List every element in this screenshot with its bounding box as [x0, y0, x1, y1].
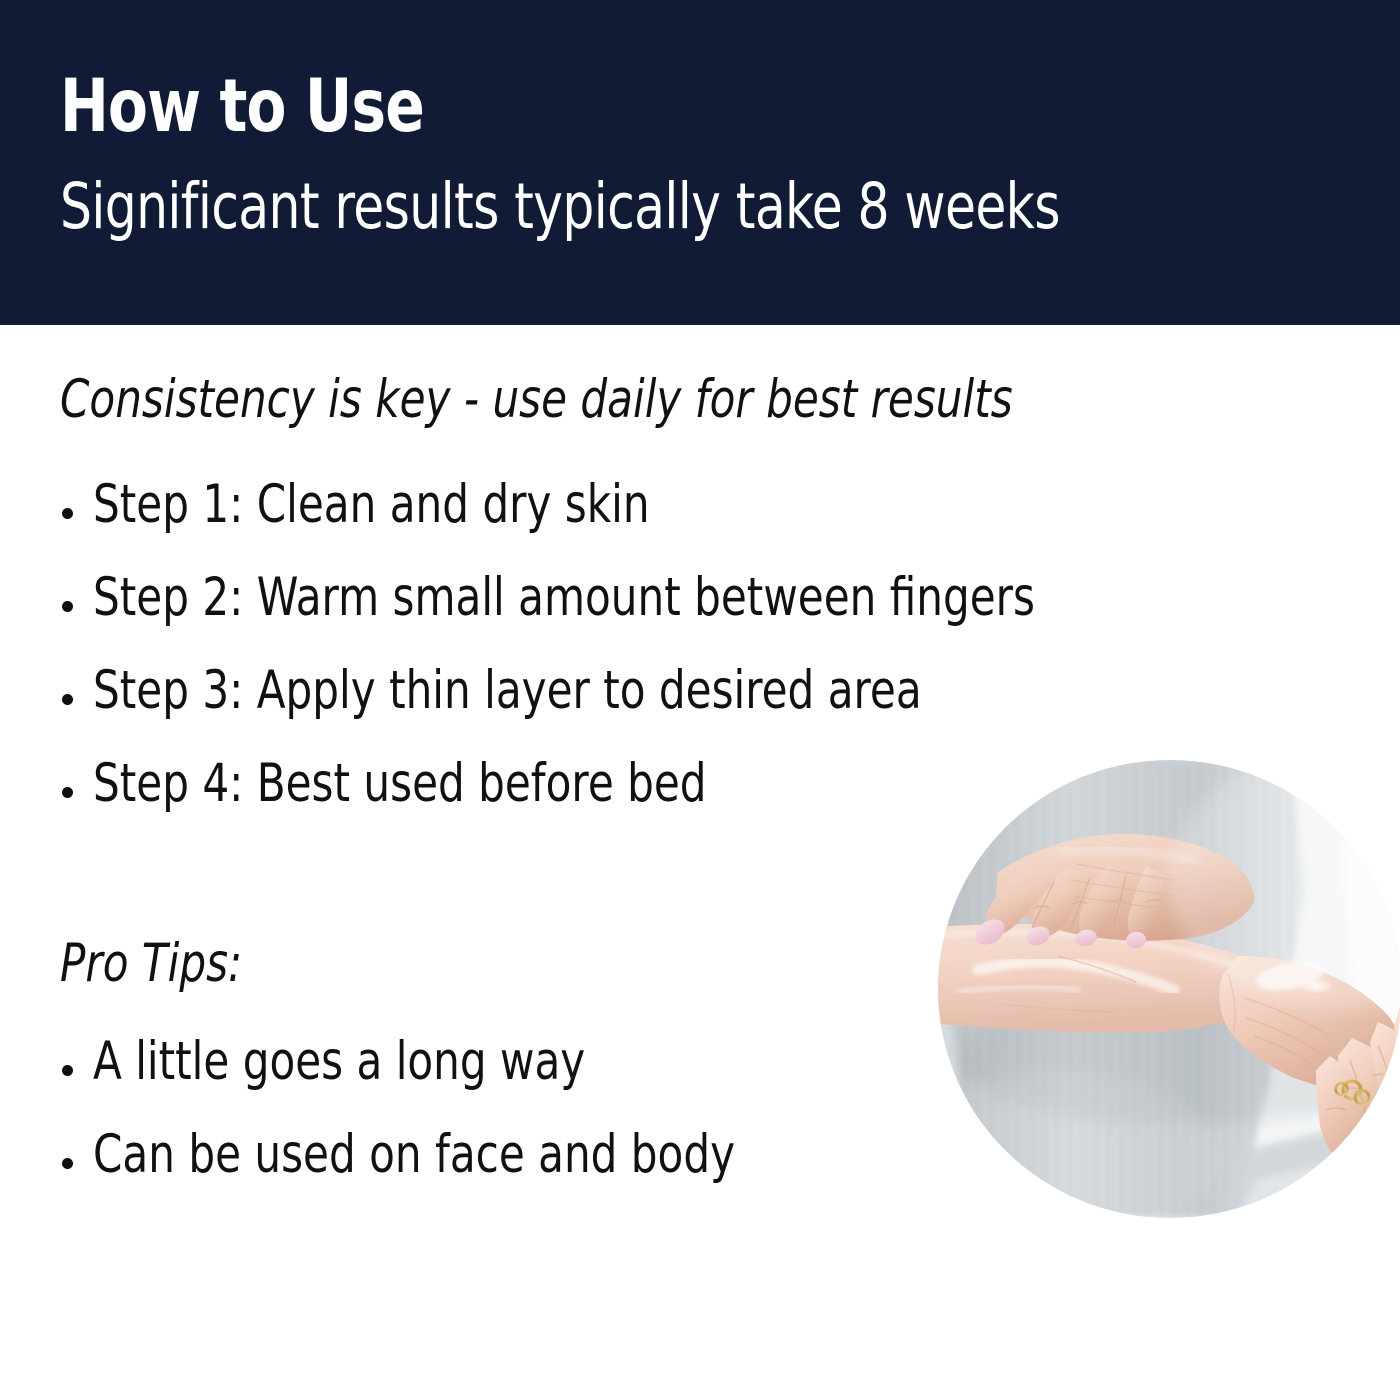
list-item: Step 4: Best used before bed — [60, 754, 1400, 847]
list-item: A little goes a long way — [60, 1032, 1400, 1125]
bullet-icon — [62, 787, 73, 798]
bullet-icon — [62, 1158, 73, 1169]
bullet-icon — [62, 694, 73, 705]
pro-tips-list: A little goes a long way Can be used on … — [60, 1032, 1400, 1218]
pro-tips-heading: Pro Tips: — [60, 937, 242, 990]
how-to-use-card: How to Use Significant results typically… — [0, 0, 1400, 1400]
bullet-icon — [62, 508, 73, 519]
header-band: How to Use Significant results typically… — [0, 0, 1400, 325]
intro-line: Consistency is key - use daily for best … — [60, 373, 1013, 426]
list-item-label: Step 2: Warm small amount between finger… — [93, 568, 1035, 627]
steps-list: Step 1: Clean and dry skin Step 2: Warm … — [60, 475, 1400, 847]
bullet-icon — [62, 601, 73, 612]
list-item: Step 1: Clean and dry skin — [60, 475, 1400, 568]
list-item: Step 2: Warm small amount between finger… — [60, 568, 1400, 661]
bullet-icon — [62, 1065, 73, 1076]
list-item-label: Step 4: Best used before bed — [93, 754, 707, 813]
list-item: Can be used on face and body — [60, 1125, 1400, 1218]
list-item-label: A little goes a long way — [93, 1032, 585, 1091]
page-title: How to Use — [60, 70, 424, 143]
page-subtitle: Significant results typically take 8 wee… — [60, 175, 1060, 238]
list-item-label: Can be used on face and body — [93, 1125, 735, 1184]
list-item-label: Step 3: Apply thin layer to desired area — [93, 661, 922, 720]
list-item: Step 3: Apply thin layer to desired area — [60, 661, 1400, 754]
list-item-label: Step 1: Clean and dry skin — [93, 475, 650, 534]
body-content: Consistency is key - use daily for best … — [0, 325, 1400, 1400]
